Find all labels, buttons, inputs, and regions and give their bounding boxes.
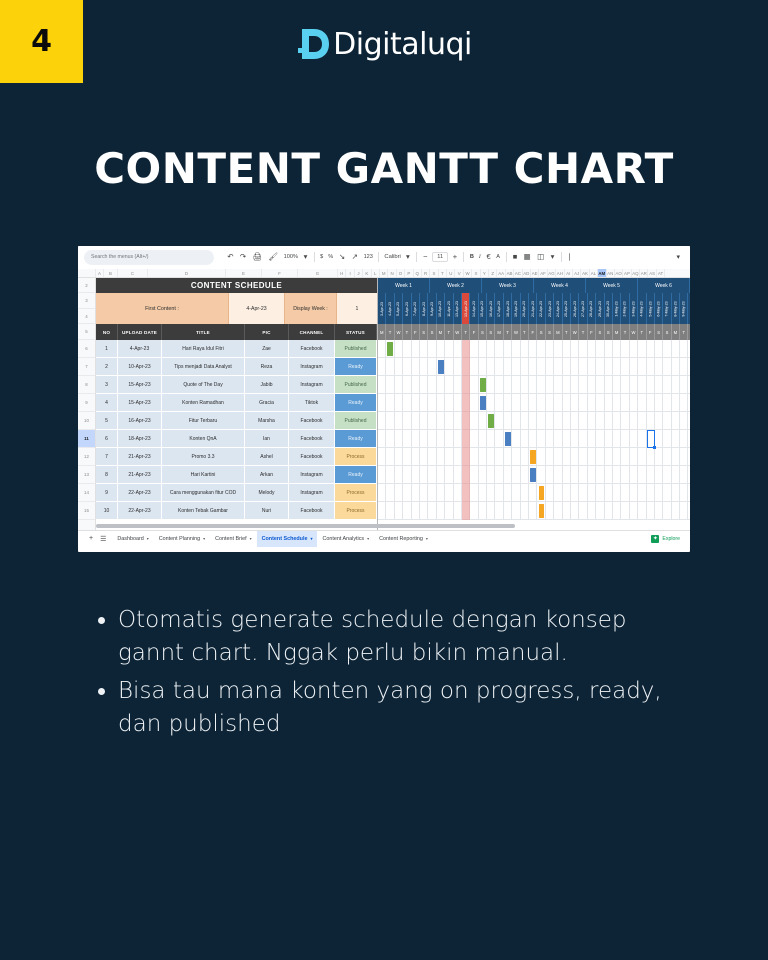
sheet-tab-content-schedule[interactable]: Content Schedule▾ bbox=[257, 531, 318, 547]
table-row[interactable]: 210-Apr-23Tips menjadi Data AnalystRezaI… bbox=[96, 358, 377, 376]
gantt-cell[interactable] bbox=[588, 484, 596, 501]
gantt-cell[interactable] bbox=[613, 466, 621, 483]
font-family-select[interactable]: Calibri bbox=[382, 254, 402, 260]
gantt-bar-ready[interactable] bbox=[438, 360, 444, 374]
gantt-cell[interactable] bbox=[655, 340, 663, 357]
gantt-cell[interactable] bbox=[655, 412, 663, 429]
gantt-cell[interactable] bbox=[454, 394, 462, 411]
table-row[interactable]: 618-Apr-23Konten QnAIanFacebookReady bbox=[96, 430, 377, 448]
gantt-cell[interactable] bbox=[378, 466, 386, 483]
row-header-8[interactable]: 8 bbox=[78, 376, 95, 394]
gantt-cell[interactable] bbox=[613, 376, 621, 393]
gantt-cell[interactable] bbox=[445, 394, 453, 411]
gantt-cell[interactable] bbox=[638, 376, 646, 393]
gantt-cell[interactable] bbox=[395, 376, 403, 393]
gantt-cell[interactable] bbox=[680, 466, 688, 483]
gantt-cell[interactable] bbox=[470, 448, 478, 465]
table-row[interactable]: 922-Apr-23Cara menggunakan fitur CODMelo… bbox=[96, 484, 377, 502]
gantt-cell[interactable] bbox=[412, 376, 420, 393]
gantt-cell[interactable] bbox=[621, 376, 629, 393]
gantt-cell[interactable] bbox=[588, 412, 596, 429]
sheet-tab-content-planning[interactable]: Content Planning▾ bbox=[154, 531, 210, 547]
gantt-cell[interactable] bbox=[688, 484, 690, 501]
column-header-t[interactable]: T bbox=[439, 269, 447, 277]
font-size-input[interactable]: 11 bbox=[432, 252, 448, 262]
gantt-cell[interactable] bbox=[596, 412, 604, 429]
gantt-cell[interactable] bbox=[386, 448, 394, 465]
column-header-i[interactable]: I bbox=[346, 269, 354, 277]
gantt-cell[interactable] bbox=[554, 412, 562, 429]
gantt-cell[interactable] bbox=[521, 340, 529, 357]
gantt-cell[interactable] bbox=[613, 502, 621, 519]
gantt-cell[interactable] bbox=[546, 484, 554, 501]
gantt-cell[interactable] bbox=[688, 448, 690, 465]
column-header-f[interactable]: F bbox=[262, 269, 298, 277]
column-header-a[interactable]: A bbox=[96, 269, 104, 277]
gantt-cell[interactable] bbox=[688, 466, 690, 483]
table-row[interactable]: 721-Apr-23Promo 3.3AshelFacebookProcess bbox=[96, 448, 377, 466]
gantt-cell[interactable] bbox=[605, 340, 613, 357]
gantt-cell[interactable] bbox=[571, 484, 579, 501]
gantt-cell[interactable] bbox=[437, 502, 445, 519]
gantt-cell[interactable] bbox=[663, 484, 671, 501]
text-rotation-icon[interactable]: ∣ bbox=[565, 253, 575, 261]
gantt-cell[interactable] bbox=[613, 448, 621, 465]
gantt-cell[interactable] bbox=[663, 412, 671, 429]
row-header-5[interactable]: 5 bbox=[78, 324, 95, 340]
gantt-cell[interactable] bbox=[495, 358, 503, 375]
gantt-cell[interactable] bbox=[663, 466, 671, 483]
gantt-cell[interactable] bbox=[638, 502, 646, 519]
gantt-cell[interactable] bbox=[647, 358, 655, 375]
gantt-cell[interactable] bbox=[647, 394, 655, 411]
gantt-cell[interactable] bbox=[630, 394, 638, 411]
column-header-s[interactable]: S bbox=[430, 269, 438, 277]
gantt-cell[interactable] bbox=[378, 340, 386, 357]
search-menus-input[interactable]: Search the menus (Alt+/) bbox=[84, 250, 214, 265]
gantt-cell[interactable] bbox=[638, 394, 646, 411]
gantt-cell[interactable] bbox=[487, 358, 495, 375]
gantt-cell[interactable] bbox=[546, 466, 554, 483]
gantt-cell[interactable] bbox=[420, 484, 428, 501]
gantt-cell[interactable] bbox=[621, 466, 629, 483]
chevron-down-icon[interactable]: ▾ bbox=[403, 253, 413, 261]
gantt-cell[interactable] bbox=[680, 376, 688, 393]
gantt-cell[interactable] bbox=[621, 358, 629, 375]
strikethrough-icon[interactable]: € bbox=[483, 253, 494, 261]
gantt-cell[interactable] bbox=[487, 430, 495, 447]
gantt-cell[interactable] bbox=[454, 502, 462, 519]
gantt-cell[interactable] bbox=[504, 358, 512, 375]
display-week-value[interactable]: 1 bbox=[337, 293, 377, 324]
increase-decimal-icon[interactable]: ↗ bbox=[348, 253, 361, 261]
gantt-cell[interactable] bbox=[445, 340, 453, 357]
gantt-cell[interactable] bbox=[487, 502, 495, 519]
gantt-cell[interactable] bbox=[462, 448, 470, 465]
gantt-cell[interactable] bbox=[521, 484, 529, 501]
gantt-cell[interactable] bbox=[537, 394, 545, 411]
column-header-m[interactable]: M bbox=[380, 269, 388, 277]
gantt-cell[interactable] bbox=[647, 412, 655, 429]
gantt-cell[interactable] bbox=[529, 412, 537, 429]
collapse-toolbar-icon[interactable]: ▾ bbox=[676, 253, 684, 261]
gantt-cell[interactable] bbox=[437, 430, 445, 447]
gantt-cell[interactable] bbox=[537, 340, 545, 357]
gantt-cell[interactable] bbox=[588, 448, 596, 465]
gantt-cell[interactable] bbox=[647, 466, 655, 483]
gantt-row[interactable] bbox=[378, 376, 690, 394]
row-header-2[interactable]: 2 bbox=[78, 278, 95, 293]
gantt-cell[interactable] bbox=[546, 340, 554, 357]
gantt-cell[interactable] bbox=[378, 430, 386, 447]
gantt-cell[interactable] bbox=[470, 376, 478, 393]
gantt-cell[interactable] bbox=[621, 412, 629, 429]
gantt-cell[interactable] bbox=[420, 412, 428, 429]
gantt-cell[interactable] bbox=[495, 502, 503, 519]
table-row[interactable]: 415-Apr-23Konten RamadhanGraciaTiktokRea… bbox=[96, 394, 377, 412]
all-sheets-icon[interactable]: ☰ bbox=[98, 535, 112, 543]
paint-format-icon[interactable]: 🖌 bbox=[265, 253, 281, 261]
gantt-cell[interactable] bbox=[521, 448, 529, 465]
gantt-cell[interactable] bbox=[454, 340, 462, 357]
gantt-row[interactable] bbox=[378, 358, 690, 376]
column-header-e[interactable]: E bbox=[226, 269, 262, 277]
gantt-row[interactable] bbox=[378, 394, 690, 412]
row-header-6[interactable]: 6 bbox=[78, 340, 95, 358]
chevron-down-icon[interactable]: ▾ bbox=[310, 536, 312, 541]
gantt-cell[interactable] bbox=[437, 466, 445, 483]
gantt-cell[interactable] bbox=[495, 466, 503, 483]
gantt-cell[interactable] bbox=[605, 466, 613, 483]
gantt-cell[interactable] bbox=[454, 358, 462, 375]
gantt-bar-ready[interactable] bbox=[505, 432, 511, 446]
gantt-cell[interactable] bbox=[621, 394, 629, 411]
gantt-cell[interactable] bbox=[554, 376, 562, 393]
gantt-cell[interactable] bbox=[596, 448, 604, 465]
gantt-cell[interactable] bbox=[420, 466, 428, 483]
gantt-cell[interactable] bbox=[512, 394, 520, 411]
gantt-cell[interactable] bbox=[420, 448, 428, 465]
gantt-cell[interactable] bbox=[554, 340, 562, 357]
gantt-cell[interactable] bbox=[563, 430, 571, 447]
gantt-cell[interactable] bbox=[537, 448, 545, 465]
gantt-cell[interactable] bbox=[554, 466, 562, 483]
gantt-cell[interactable] bbox=[403, 340, 411, 357]
gantt-cell[interactable] bbox=[647, 376, 655, 393]
gantt-cell[interactable] bbox=[378, 484, 386, 501]
gantt-cell[interactable] bbox=[420, 502, 428, 519]
gantt-cell[interactable] bbox=[621, 484, 629, 501]
gantt-cell[interactable] bbox=[605, 358, 613, 375]
gantt-cell[interactable] bbox=[378, 502, 386, 519]
fill-color-icon[interactable]: ■ bbox=[510, 253, 521, 261]
gantt-cell[interactable] bbox=[403, 502, 411, 519]
column-header-ac[interactable]: AC bbox=[514, 269, 522, 277]
gantt-cell[interactable] bbox=[437, 340, 445, 357]
column-header-ak[interactable]: AK bbox=[581, 269, 589, 277]
gantt-cell[interactable] bbox=[412, 502, 420, 519]
gantt-cell[interactable] bbox=[445, 412, 453, 429]
gantt-cell[interactable] bbox=[613, 412, 621, 429]
gantt-cell[interactable] bbox=[571, 466, 579, 483]
column-header-j[interactable]: J bbox=[355, 269, 363, 277]
gantt-cell[interactable] bbox=[378, 358, 386, 375]
gantt-cell[interactable] bbox=[462, 412, 470, 429]
gantt-cell[interactable] bbox=[487, 340, 495, 357]
gantt-cell[interactable] bbox=[386, 430, 394, 447]
gantt-cell[interactable] bbox=[378, 412, 386, 429]
gantt-chart-area[interactable] bbox=[378, 340, 690, 520]
gantt-cell[interactable] bbox=[571, 394, 579, 411]
gantt-cell[interactable] bbox=[688, 430, 690, 447]
sheet-tab-dashboard[interactable]: Dashboard▾ bbox=[112, 531, 153, 547]
column-header-r[interactable]: R bbox=[422, 269, 430, 277]
gantt-cell[interactable] bbox=[571, 448, 579, 465]
gantt-cell[interactable] bbox=[403, 412, 411, 429]
gantt-cell[interactable] bbox=[672, 340, 680, 357]
gantt-cell[interactable] bbox=[479, 430, 487, 447]
gantt-cell[interactable] bbox=[688, 412, 690, 429]
gantt-cell[interactable] bbox=[672, 376, 680, 393]
gantt-cell[interactable] bbox=[412, 412, 420, 429]
chevron-down-icon[interactable]: ▾ bbox=[203, 536, 205, 541]
gantt-cell[interactable] bbox=[554, 502, 562, 519]
gantt-cell[interactable] bbox=[680, 358, 688, 375]
gantt-bar-process[interactable] bbox=[530, 450, 536, 464]
gantt-cell[interactable] bbox=[579, 394, 587, 411]
gantt-cell[interactable] bbox=[563, 466, 571, 483]
gantt-cell[interactable] bbox=[454, 448, 462, 465]
gantt-cell[interactable] bbox=[588, 430, 596, 447]
gantt-cell[interactable] bbox=[470, 412, 478, 429]
gantt-cell[interactable] bbox=[445, 466, 453, 483]
gantt-cell[interactable] bbox=[462, 430, 470, 447]
print-icon[interactable]: 🖨 bbox=[249, 253, 265, 261]
gantt-cell[interactable] bbox=[403, 376, 411, 393]
column-header-al[interactable]: AL bbox=[590, 269, 598, 277]
gantt-cell[interactable] bbox=[445, 430, 453, 447]
gantt-cell[interactable] bbox=[688, 340, 690, 357]
gantt-cell[interactable] bbox=[420, 430, 428, 447]
gantt-cell[interactable] bbox=[537, 430, 545, 447]
chevron-down-icon[interactable]: ▾ bbox=[147, 536, 149, 541]
gantt-cell[interactable] bbox=[546, 430, 554, 447]
gantt-cell[interactable] bbox=[605, 394, 613, 411]
gantt-row[interactable] bbox=[378, 502, 690, 520]
gantt-cell[interactable] bbox=[655, 466, 663, 483]
column-header-z[interactable]: Z bbox=[489, 269, 497, 277]
gantt-cell[interactable] bbox=[630, 340, 638, 357]
row-header-9[interactable]: 9 bbox=[78, 394, 95, 412]
gantt-bar-process[interactable] bbox=[539, 504, 545, 518]
column-header-an[interactable]: AN bbox=[607, 269, 615, 277]
gantt-cell[interactable] bbox=[428, 502, 436, 519]
gantt-cell[interactable] bbox=[647, 502, 655, 519]
gantt-cell[interactable] bbox=[512, 484, 520, 501]
gantt-cell[interactable] bbox=[470, 430, 478, 447]
gantt-cell[interactable] bbox=[386, 376, 394, 393]
gantt-cell[interactable] bbox=[554, 448, 562, 465]
gantt-cell[interactable] bbox=[386, 394, 394, 411]
undo-icon[interactable]: ↶ bbox=[224, 253, 237, 261]
gantt-cell[interactable] bbox=[680, 502, 688, 519]
gantt-cell[interactable] bbox=[663, 376, 671, 393]
gantt-cell[interactable] bbox=[571, 430, 579, 447]
gantt-cell[interactable] bbox=[470, 502, 478, 519]
gantt-cell[interactable] bbox=[655, 358, 663, 375]
gantt-cell[interactable] bbox=[571, 502, 579, 519]
gantt-cell[interactable] bbox=[403, 430, 411, 447]
gantt-cell[interactable] bbox=[571, 376, 579, 393]
table-row[interactable]: 821-Apr-23Hari KartiniArkanInstagramRead… bbox=[96, 466, 377, 484]
gantt-cell[interactable] bbox=[605, 430, 613, 447]
gantt-cell[interactable] bbox=[672, 448, 680, 465]
column-header-v[interactable]: V bbox=[455, 269, 463, 277]
gantt-cell[interactable] bbox=[588, 466, 596, 483]
gantt-bar-ready[interactable] bbox=[530, 468, 536, 482]
gantt-cell[interactable] bbox=[529, 430, 537, 447]
gantt-cell[interactable] bbox=[403, 484, 411, 501]
gantt-cell[interactable] bbox=[412, 430, 420, 447]
gantt-row[interactable] bbox=[378, 340, 690, 358]
gantt-cell[interactable] bbox=[630, 466, 638, 483]
column-header-ab[interactable]: AB bbox=[506, 269, 514, 277]
column-header-ah[interactable]: AH bbox=[556, 269, 564, 277]
gantt-cell[interactable] bbox=[529, 358, 537, 375]
gantt-cell[interactable] bbox=[395, 502, 403, 519]
gantt-cell[interactable] bbox=[579, 430, 587, 447]
column-header-h[interactable]: H bbox=[338, 269, 346, 277]
gantt-cell[interactable] bbox=[688, 376, 690, 393]
gantt-cell[interactable] bbox=[454, 466, 462, 483]
column-header-l[interactable]: L bbox=[372, 269, 380, 277]
gantt-cell[interactable] bbox=[672, 430, 680, 447]
gantt-cell[interactable] bbox=[445, 502, 453, 519]
gantt-cell[interactable] bbox=[428, 484, 436, 501]
gantt-cell[interactable] bbox=[638, 448, 646, 465]
gantt-cell[interactable] bbox=[655, 484, 663, 501]
gantt-cell[interactable] bbox=[521, 430, 529, 447]
gantt-cell[interactable] bbox=[688, 502, 690, 519]
gantt-cell[interactable] bbox=[537, 358, 545, 375]
gantt-cell[interactable] bbox=[529, 340, 537, 357]
gantt-cell[interactable] bbox=[563, 448, 571, 465]
column-header-k[interactable]: K bbox=[363, 269, 371, 277]
column-header-y[interactable]: Y bbox=[481, 269, 489, 277]
gantt-cell[interactable] bbox=[470, 466, 478, 483]
column-header-n[interactable]: N bbox=[388, 269, 396, 277]
gantt-cell[interactable] bbox=[512, 502, 520, 519]
row-header-11[interactable]: 11 bbox=[78, 430, 95, 448]
chevron-down-icon[interactable]: ▾ bbox=[547, 253, 557, 261]
gantt-cell[interactable] bbox=[420, 394, 428, 411]
gantt-cell[interactable] bbox=[403, 448, 411, 465]
gantt-cell[interactable] bbox=[512, 358, 520, 375]
gantt-cell[interactable] bbox=[445, 358, 453, 375]
gantt-cell[interactable] bbox=[529, 394, 537, 411]
gantt-cell[interactable] bbox=[412, 358, 420, 375]
gantt-cell[interactable] bbox=[613, 340, 621, 357]
gantt-cell[interactable] bbox=[378, 394, 386, 411]
gantt-cell[interactable] bbox=[428, 448, 436, 465]
gantt-cell[interactable] bbox=[512, 466, 520, 483]
sheet-tab-content-brief[interactable]: Content Brief▾ bbox=[210, 531, 256, 547]
gantt-cell[interactable] bbox=[579, 376, 587, 393]
merge-cells-icon[interactable]: ◫ bbox=[534, 253, 547, 261]
gantt-cell[interactable] bbox=[596, 502, 604, 519]
gantt-cell[interactable] bbox=[445, 448, 453, 465]
gantt-cell[interactable] bbox=[563, 502, 571, 519]
gantt-cell[interactable] bbox=[680, 448, 688, 465]
gantt-cell[interactable] bbox=[546, 502, 554, 519]
gantt-cell[interactable] bbox=[437, 448, 445, 465]
gantt-cell[interactable] bbox=[672, 484, 680, 501]
increase-font-size-button[interactable]: + bbox=[450, 253, 461, 261]
gantt-cell[interactable] bbox=[554, 484, 562, 501]
gantt-cell[interactable] bbox=[588, 340, 596, 357]
gantt-cell[interactable] bbox=[512, 340, 520, 357]
gantt-cell[interactable] bbox=[563, 484, 571, 501]
gantt-cell[interactable] bbox=[504, 376, 512, 393]
column-header-af[interactable]: AF bbox=[539, 269, 547, 277]
sheet-tab-content-reporting[interactable]: Content Reporting▾ bbox=[374, 531, 433, 547]
gantt-cell[interactable] bbox=[613, 358, 621, 375]
gantt-cell[interactable] bbox=[428, 466, 436, 483]
gantt-cell[interactable] bbox=[470, 484, 478, 501]
gantt-cell[interactable] bbox=[470, 340, 478, 357]
gantt-cell[interactable] bbox=[479, 412, 487, 429]
gantt-cell[interactable] bbox=[680, 430, 688, 447]
gantt-cell[interactable] bbox=[487, 448, 495, 465]
gantt-cell[interactable] bbox=[412, 466, 420, 483]
first-content-value[interactable]: 4-Apr-23 bbox=[229, 293, 285, 324]
gantt-cell[interactable] bbox=[378, 448, 386, 465]
gantt-cell[interactable] bbox=[554, 430, 562, 447]
gantt-row[interactable] bbox=[378, 412, 690, 430]
gantt-cell[interactable] bbox=[403, 358, 411, 375]
gantt-cell[interactable] bbox=[428, 376, 436, 393]
add-sheet-button[interactable]: + bbox=[84, 535, 98, 542]
gantt-cell[interactable] bbox=[462, 358, 470, 375]
gantt-cell[interactable] bbox=[680, 484, 688, 501]
column-header-am[interactable]: AM bbox=[598, 269, 606, 277]
gantt-cell[interactable] bbox=[437, 376, 445, 393]
gantt-cell[interactable] bbox=[437, 484, 445, 501]
gantt-bar-published[interactable] bbox=[387, 342, 393, 356]
text-color-icon[interactable]: A bbox=[494, 254, 503, 260]
gantt-cell[interactable] bbox=[680, 412, 688, 429]
gantt-cell[interactable] bbox=[495, 484, 503, 501]
column-header-q[interactable]: Q bbox=[414, 269, 422, 277]
column-header-d[interactable]: D bbox=[148, 269, 226, 277]
gantt-cell[interactable] bbox=[504, 484, 512, 501]
gantt-cell[interactable] bbox=[462, 466, 470, 483]
column-header-x[interactable]: X bbox=[472, 269, 480, 277]
gantt-cell[interactable] bbox=[470, 394, 478, 411]
active-cell-cursor[interactable] bbox=[647, 430, 655, 448]
gantt-cell[interactable] bbox=[504, 394, 512, 411]
gantt-cell[interactable] bbox=[680, 394, 688, 411]
gantt-cell[interactable] bbox=[546, 358, 554, 375]
gantt-cell[interactable] bbox=[605, 412, 613, 429]
gantt-cell[interactable] bbox=[630, 412, 638, 429]
gantt-cell[interactable] bbox=[529, 502, 537, 519]
gantt-cell[interactable] bbox=[403, 394, 411, 411]
zoom-level[interactable]: 100% bbox=[281, 254, 300, 260]
gantt-cell[interactable] bbox=[386, 412, 394, 429]
gantt-cell[interactable] bbox=[521, 394, 529, 411]
gantt-cell[interactable] bbox=[596, 466, 604, 483]
